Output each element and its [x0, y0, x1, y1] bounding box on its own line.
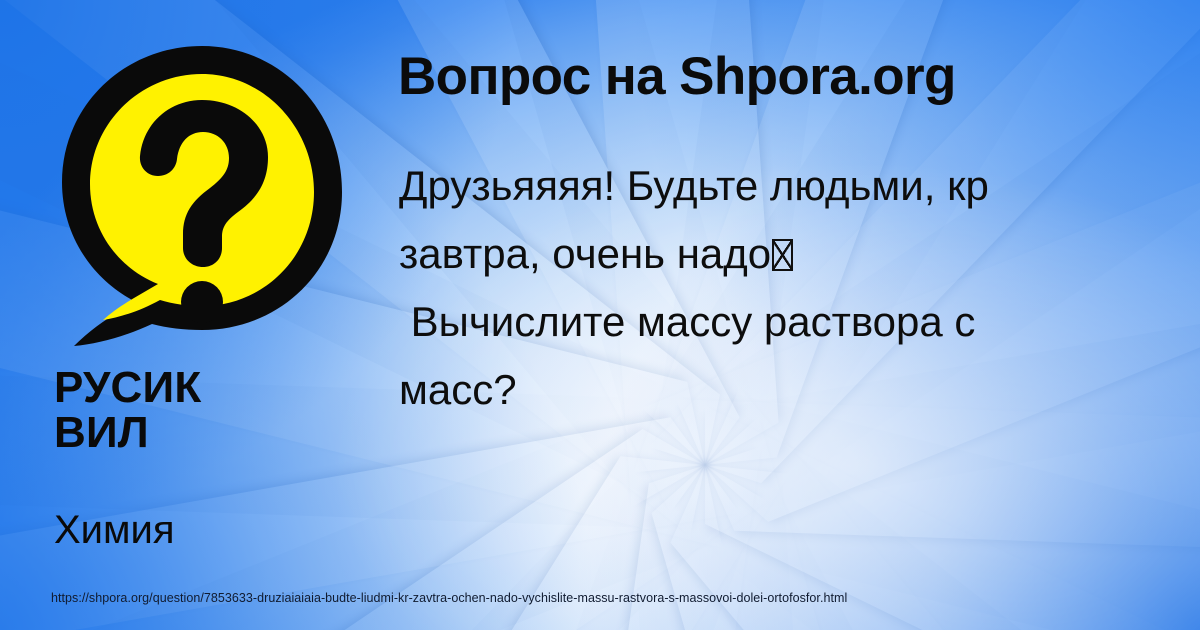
- question-line: Вычислите массу раствора с: [399, 288, 1189, 356]
- author-name-line-2: ВИЛ: [54, 411, 354, 456]
- question-text: Друзьяяяя! Будьте людьми, кр завтра, оче…: [399, 152, 1189, 424]
- page-title: Вопрос на Shpora.org: [398, 46, 956, 107]
- question-speech-bubble-icon: [52, 34, 352, 354]
- question-line: Друзьяяяя! Будьте людьми, кр: [399, 152, 1189, 220]
- shpora-question-card: РУСИК ВИЛ Химия Вопрос на Shpora.org Дру…: [0, 0, 1200, 630]
- question-line: масс?: [399, 356, 1189, 424]
- question-line: завтра, очень надо: [399, 220, 1189, 288]
- question-line-text: завтра, очень надо: [399, 230, 771, 277]
- subject-label: Химия: [54, 508, 354, 552]
- card-content: РУСИК ВИЛ Химия Вопрос на Shpora.org Дру…: [0, 0, 1200, 630]
- author-name: РУСИК ВИЛ: [54, 366, 354, 456]
- missing-glyph-box-icon: [772, 239, 793, 272]
- source-url[interactable]: https://shpora.org/question/7853633-druz…: [51, 591, 847, 605]
- author-name-line-1: РУСИК: [54, 366, 354, 411]
